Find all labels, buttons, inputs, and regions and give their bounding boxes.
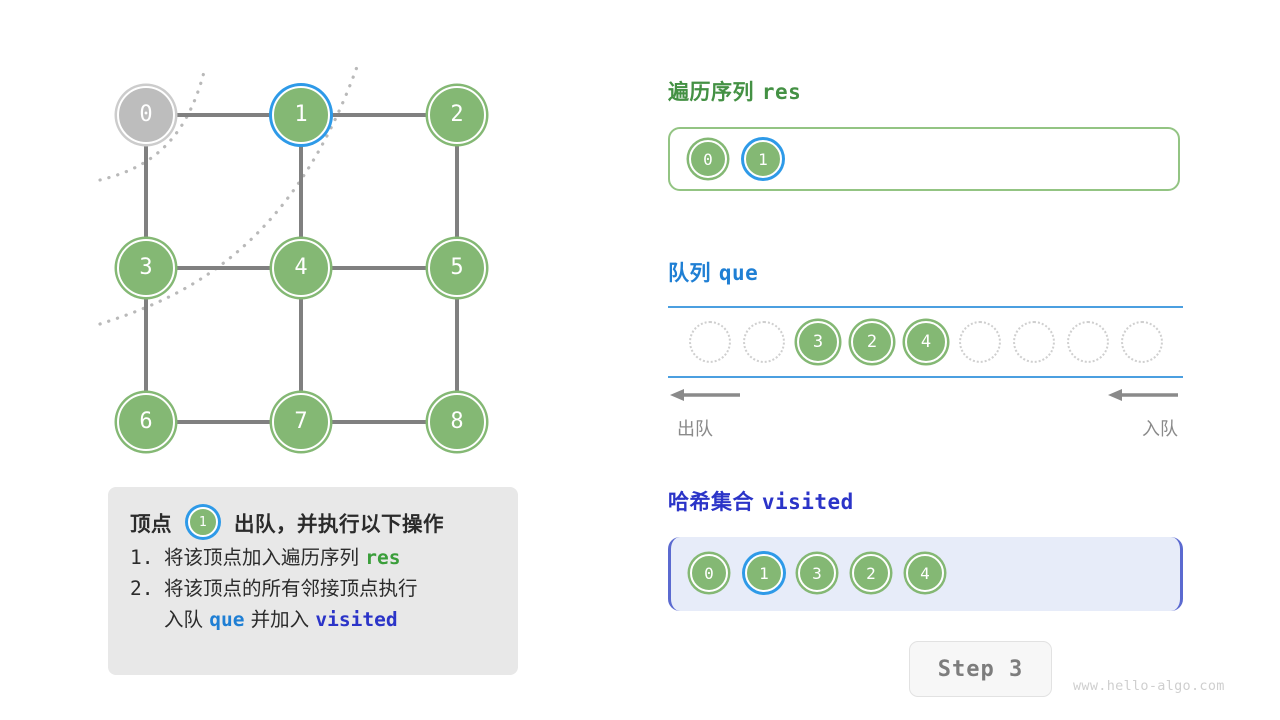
visited-item-0[interactable]: 0: [690, 554, 728, 592]
info-line3-code-que: que: [209, 608, 244, 631]
res-title-cn: 遍历序列: [668, 80, 754, 104]
info-line3-before: 入队: [164, 608, 203, 631]
queue-slot-0[interactable]: [689, 321, 731, 363]
visited-item-1[interactable]: 1: [745, 554, 783, 592]
graph-panel: 0 1 2 3 4 5 6 7 8: [0, 0, 600, 500]
info-card-step-2-cont: 入队 que 并加入 visited: [130, 605, 498, 636]
queue-slot-6[interactable]: [1013, 321, 1055, 363]
info-head-prefix: 顶点: [130, 507, 172, 537]
info-head-vertex-badge: 1: [188, 507, 218, 537]
queue-slot-2[interactable]: 3: [797, 321, 839, 363]
info-head-suffix: 出队，并执行以下操作: [234, 507, 444, 537]
res-item-1[interactable]: 1: [744, 140, 782, 178]
enqueue-label: 入队: [1142, 415, 1178, 441]
queue-slot-8[interactable]: [1121, 321, 1163, 363]
info-card-heading: 顶点 1 出队，并执行以下操作: [130, 501, 498, 543]
info-step-1-number: 1.: [130, 543, 164, 574]
graph-vertex-4[interactable]: 4: [272, 239, 330, 297]
queue-title-code: que: [719, 261, 758, 285]
info-step-1-code: res: [365, 546, 400, 569]
visited-title-code: visited: [762, 490, 854, 514]
graph-vertex-5[interactable]: 5: [428, 239, 486, 297]
queue-slot-1[interactable]: [743, 321, 785, 363]
visited-container: 0 1 3 2 4: [668, 537, 1183, 611]
graph-vertex-2[interactable]: 2: [428, 86, 486, 144]
info-card-step-1: 1. 将该顶点加入遍历序列 res: [130, 543, 498, 574]
visited-section-title: 哈希集合 visited: [668, 486, 854, 516]
graph-vertex-8[interactable]: 8: [428, 393, 486, 451]
info-step-2-indent: [130, 605, 164, 636]
dequeue-arrow: [670, 385, 742, 405]
info-line3-code-visited: visited: [315, 608, 397, 631]
queue-title-cn: 队列: [668, 261, 711, 285]
res-container: 0 1: [668, 127, 1180, 191]
res-title-code: res: [762, 80, 801, 104]
operation-info-card: 顶点 1 出队，并执行以下操作 1. 将该顶点加入遍历序列 res 2. 将该顶…: [108, 487, 518, 675]
info-line3-middle: 并加入: [251, 608, 310, 631]
right-panel: 遍历序列 res 0 1 队列 que 3 2 4 出队 入队 哈希集合 vis…: [665, 0, 1225, 720]
queue-bottom-rule: [668, 376, 1183, 378]
queue-slot-4[interactable]: 4: [905, 321, 947, 363]
graph-vertex-6[interactable]: 6: [117, 393, 175, 451]
info-step-2-text: 将该顶点的所有邻接顶点执行: [164, 574, 418, 605]
enqueue-arrow: [1108, 385, 1180, 405]
queue-slot-5[interactable]: [959, 321, 1001, 363]
step-badge: Step 3: [909, 641, 1052, 697]
queue-section-title: 队列 que: [668, 257, 758, 287]
dequeue-label: 出队: [677, 415, 713, 441]
info-step-2-number: 2.: [130, 574, 164, 605]
visited-title-cn: 哈希集合: [668, 490, 754, 514]
queue-slot-3[interactable]: 2: [851, 321, 893, 363]
graph-vertex-1[interactable]: 1: [272, 86, 330, 144]
queue-slot-7[interactable]: [1067, 321, 1109, 363]
info-card-step-2: 2. 将该顶点的所有邻接顶点执行: [130, 574, 498, 605]
res-section-title: 遍历序列 res: [668, 76, 801, 106]
queue-container: 3 2 4: [668, 306, 1183, 382]
info-step-1-text-before: 将该顶点加入遍历序列: [164, 546, 359, 569]
graph-vertex-3[interactable]: 3: [117, 239, 175, 297]
info-step-2-cont-text: 入队 que 并加入 visited: [164, 605, 398, 636]
queue-top-rule: [668, 306, 1183, 308]
graph-vertex-0[interactable]: 0: [117, 86, 175, 144]
res-item-0[interactable]: 0: [689, 140, 727, 178]
graph-vertex-7[interactable]: 7: [272, 393, 330, 451]
info-step-1-text: 将该顶点加入遍历序列 res: [164, 543, 400, 574]
watermark: www.hello-algo.com: [1073, 678, 1225, 694]
visited-item-2[interactable]: 3: [798, 554, 836, 592]
visited-item-3[interactable]: 2: [852, 554, 890, 592]
visited-item-4[interactable]: 4: [906, 554, 944, 592]
